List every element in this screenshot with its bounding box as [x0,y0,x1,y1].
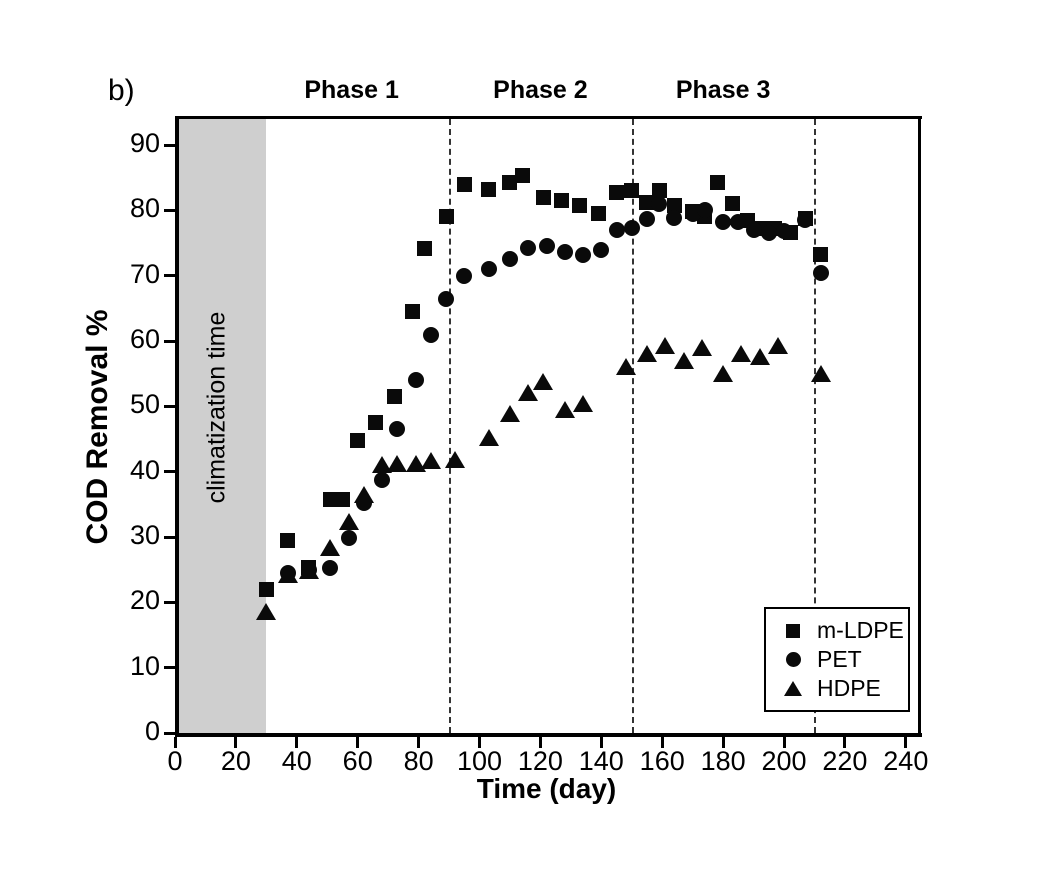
legend-marker-square-icon [778,624,808,638]
cod-removal-chart-figure: b) COD Removal % Time (day) Phase 1Phase… [0,0,1057,884]
y-tick [164,536,175,539]
y-tick-label: 80 [80,195,160,222]
y-tick-label: 10 [80,653,160,680]
data-point-triangle [713,365,733,382]
phase-label: Phase 2 [493,78,588,103]
panel-label: b) [108,76,135,106]
x-tick-label: 80 [384,748,454,775]
data-point-triangle [299,562,319,579]
plot-area: climatization time 0102030405060708090 0… [175,119,918,733]
y-tick-label: 90 [80,130,160,157]
y-tick-label: 30 [80,522,160,549]
legend-item-m-ldpe[interactable]: m-LDPE [766,616,908,645]
y-tick [164,144,175,147]
y-tick-label: 60 [80,326,160,353]
y-tick [164,601,175,604]
x-tick-label: 140 [566,748,636,775]
x-tick-label: 160 [627,748,697,775]
legend-label: m-LDPE [808,619,904,642]
x-tick-label: 240 [871,748,941,775]
y-tick [164,732,175,735]
data-point-triangle [768,337,788,354]
y-tick-label: 40 [80,457,160,484]
phase-label: Phase 3 [676,78,771,103]
phase-label: Phase 1 [304,78,399,103]
y-tick [164,666,175,669]
data-point-triangle [655,337,675,354]
y-tick-label: 70 [80,261,160,288]
data-point-triangle [339,513,359,530]
x-tick-label: 100 [445,748,515,775]
legend-marker-circle-icon [778,652,808,667]
data-point-triangle [573,395,593,412]
legend-label: HDPE [808,677,881,700]
x-tick-label: 200 [749,748,819,775]
x-tick-label: 40 [262,748,332,775]
data-point-triangle [533,373,553,390]
x-tick-label: 60 [323,748,393,775]
data-point-triangle [421,452,441,469]
x-tick-label: 20 [201,748,271,775]
data-point-triangle [320,539,340,556]
y-tick [164,274,175,277]
data-point-triangle [354,486,374,503]
data-point-triangle [278,566,298,583]
data-point-triangle [731,345,751,362]
data-point-triangle [445,451,465,468]
legend-marker-triangle-icon [778,681,808,696]
x-axis-title: Time (day) [175,775,918,803]
y-tick [164,470,175,473]
y-tick-label: 20 [80,587,160,614]
x-tick-label: 120 [505,748,575,775]
y-tick-label: 50 [80,391,160,418]
plot-border-right [918,116,921,737]
data-point-triangle [500,405,520,422]
data-point-triangle [637,345,657,362]
legend-item-hdpe[interactable]: HDPE [766,674,908,703]
data-point-triangle [256,603,276,620]
data-point-triangle [750,348,770,365]
y-tick-label: 0 [80,718,160,745]
data-point-triangle [616,358,636,375]
data-point-triangle [692,339,712,356]
x-tick-label: 180 [688,748,758,775]
y-tick [164,340,175,343]
data-point-triangle [387,455,407,472]
data-point-triangle [555,401,575,418]
legend-label: PET [808,648,862,671]
y-tick [164,209,175,212]
x-tick-label: 220 [810,748,880,775]
data-point-triangle [811,365,831,382]
x-axis-line [175,733,922,737]
legend[interactable]: m-LDPEPETHDPE [764,607,910,712]
legend-item-pet[interactable]: PET [766,645,908,674]
data-point-triangle [479,429,499,446]
x-tick-label: 0 [140,748,210,775]
y-tick [164,405,175,408]
data-point-triangle [674,352,694,369]
